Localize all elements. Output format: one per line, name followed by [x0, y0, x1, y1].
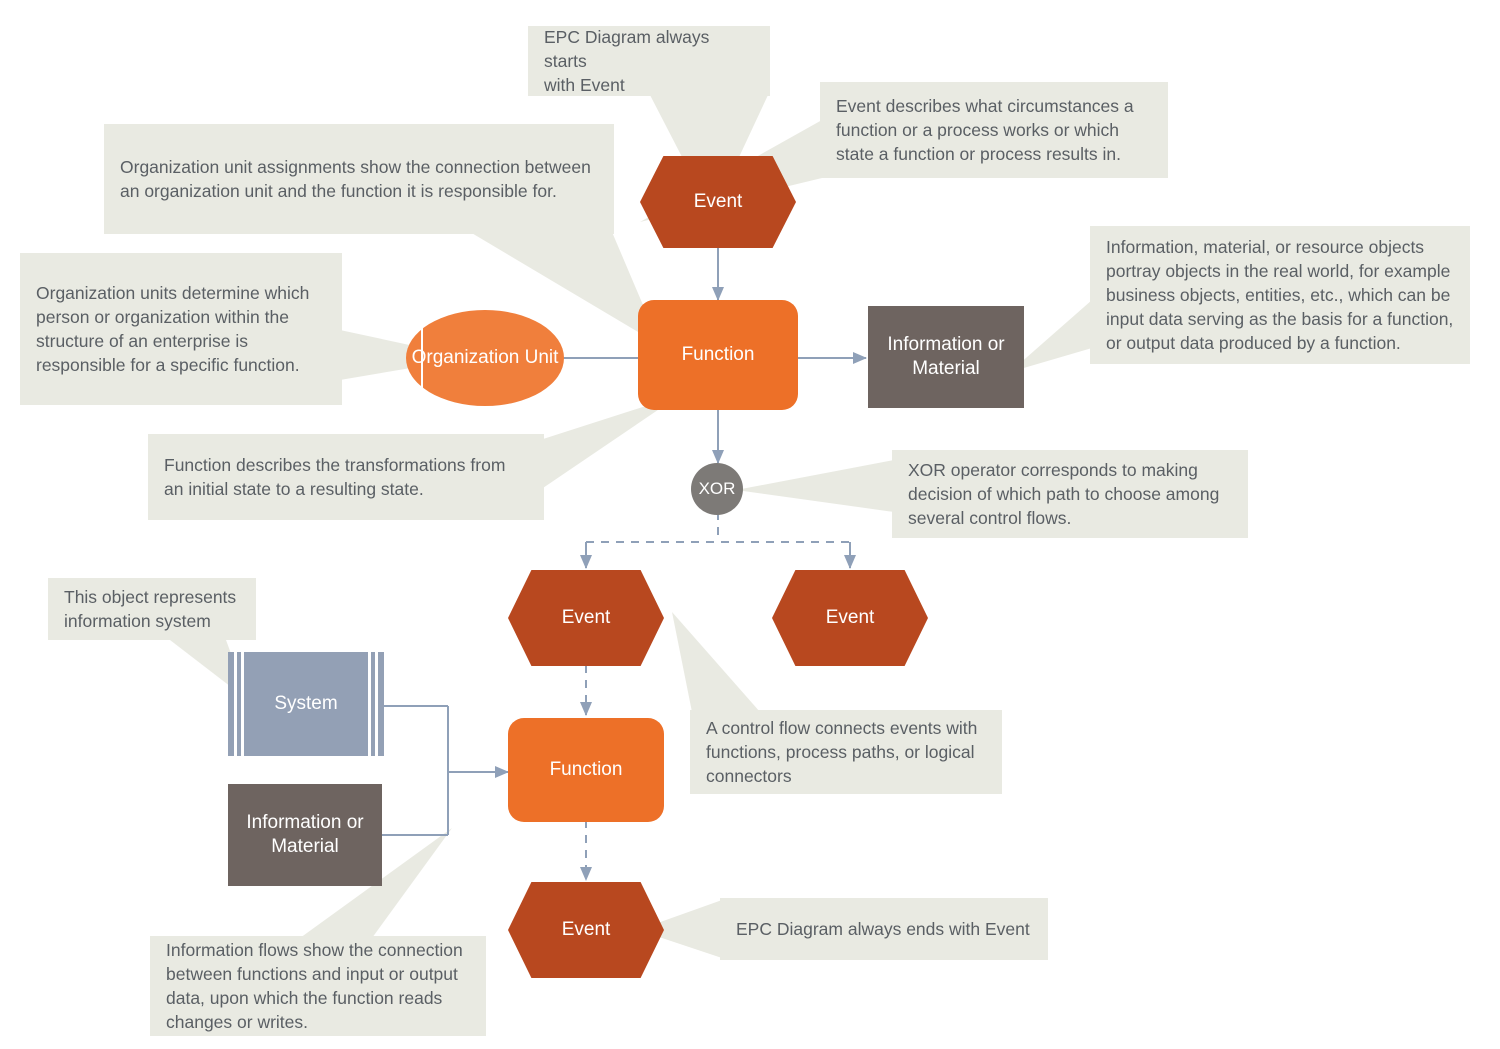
note-event-describes: Event describes what circumstances a fun… — [820, 82, 1168, 178]
node-function-top[interactable]: Function — [638, 300, 798, 410]
note-xor-operator: XOR operator corresponds to making decis… — [892, 450, 1248, 538]
node-label: Event — [826, 606, 875, 630]
system-stripe-left-inner — [241, 652, 244, 756]
node-event-branch-right[interactable]: Event — [772, 570, 928, 666]
node-event-end[interactable]: Event — [508, 882, 664, 978]
system-stripe-right-outer — [375, 652, 378, 756]
node-information-or-material-bottom[interactable]: Information or Material — [228, 784, 382, 886]
note-org-unit-assignments: Organization unit assignments show the c… — [104, 124, 614, 234]
node-label: Information or Material — [228, 811, 382, 859]
system-stripe-right-inner — [368, 652, 371, 756]
note-ends-with-event: EPC Diagram always ends with Event — [720, 898, 1048, 960]
node-information-or-material-top[interactable]: Information or Material — [868, 306, 1024, 408]
node-label: Organization Unit — [412, 346, 559, 370]
note-starts-with-event: EPC Diagram always starts with Event — [528, 26, 770, 96]
note-information-system: This object represents information syste… — [48, 578, 256, 640]
node-function-bottom[interactable]: Function — [508, 718, 664, 822]
node-label: Information or Material — [868, 333, 1024, 381]
node-label: Function — [682, 343, 755, 367]
note-information-flows: Information flows show the connection be… — [150, 936, 486, 1036]
node-event-branch-left[interactable]: Event — [508, 570, 664, 666]
node-label: Event — [694, 190, 743, 214]
node-label: XOR — [699, 478, 736, 499]
node-organization-unit[interactable]: Organization Unit — [406, 310, 564, 406]
note-control-flow: A control flow connects events with func… — [690, 710, 1002, 794]
system-stripe-left-outer — [234, 652, 237, 756]
node-xor-connector[interactable]: XOR — [691, 463, 743, 515]
node-label: Event — [562, 606, 611, 630]
node-label: Function — [550, 758, 623, 782]
note-function-describes: Function describes the transformations f… — [148, 434, 544, 520]
node-system[interactable]: System — [228, 652, 384, 756]
epc-diagram-canvas: EPC Diagram always starts with Event Eve… — [0, 0, 1500, 1049]
node-label: System — [274, 692, 337, 716]
note-org-units-determine: Organization units determine which perso… — [20, 253, 342, 405]
note-information-objects: Information, material, or resource objec… — [1090, 226, 1470, 364]
node-event-start[interactable]: Event — [640, 156, 796, 248]
node-label: Event — [562, 918, 611, 942]
